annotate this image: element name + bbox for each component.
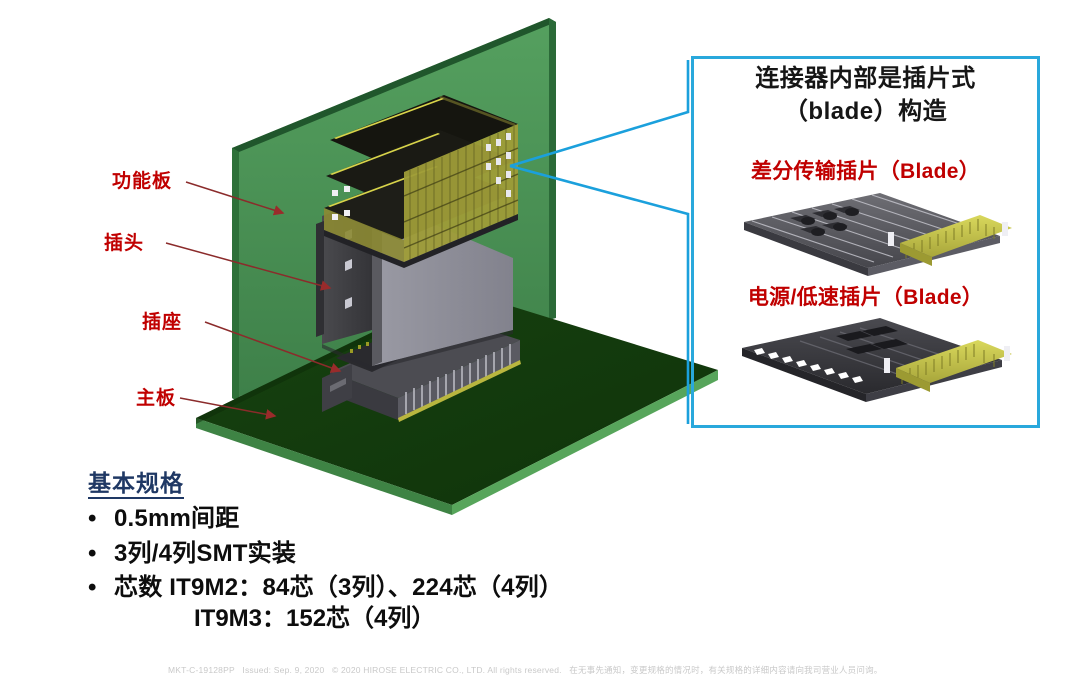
spec-heading: 基本规格	[88, 470, 184, 499]
bullet-glyph: •	[88, 573, 114, 602]
power-lowspeed-blade-label: 电源/低速插片（Blade）	[691, 281, 1040, 311]
callout-title-line2: （blade）构造	[691, 96, 1040, 127]
label-receptacle: 插座	[142, 307, 182, 334]
bullet-glyph: •	[88, 504, 114, 533]
label-motherboard: 主板	[136, 383, 176, 410]
label-plug: 插头	[104, 228, 144, 255]
footer-issued: Issued: Sep. 9, 2020	[242, 665, 324, 675]
slide-canvas: 功能板 插头 插座 主板 连接器内部是插片式 （blade）构造 差分传输插片（…	[0, 0, 1080, 686]
footer: MKT-C-19128PP Issued: Sep. 9, 2020 © 202…	[168, 664, 928, 676]
callout-title-line1: 连接器内部是插片式	[691, 63, 1040, 94]
spec-item: • 3列/4列SMT实装	[88, 539, 563, 568]
label-function-board: 功能板	[112, 166, 172, 193]
footer-doc-code: MKT-C-19128PP	[168, 665, 235, 675]
bullet-glyph: •	[88, 539, 114, 568]
basic-spec-block: 基本规格 • 0.5mm间距 • 3列/4列SMT实装 • 芯数 IT9M2：8…	[88, 470, 563, 634]
spec-item-text: 3列/4列SMT实装	[114, 539, 296, 568]
footer-notice: 在无事先通知，变更规格的情况时，有关规格的详细内容请向我司营业人员问询。	[569, 665, 882, 675]
differential-blade-label: 差分传输插片（Blade）	[691, 155, 1040, 185]
spec-item-text: 芯数 IT9M2：84芯（3列）、224芯（4列）	[114, 573, 563, 602]
spec-item-continuation: IT9M3：152芯（4列）	[194, 604, 563, 634]
footer-copyright: © 2020 HIROSE ELECTRIC CO., LTD. All rig…	[332, 665, 562, 675]
spec-item: • 0.5mm间距	[88, 504, 563, 533]
spec-item: • 芯数 IT9M2：84芯（3列）、224芯（4列）	[88, 573, 563, 602]
spec-item-text: 0.5mm间距	[114, 504, 239, 533]
